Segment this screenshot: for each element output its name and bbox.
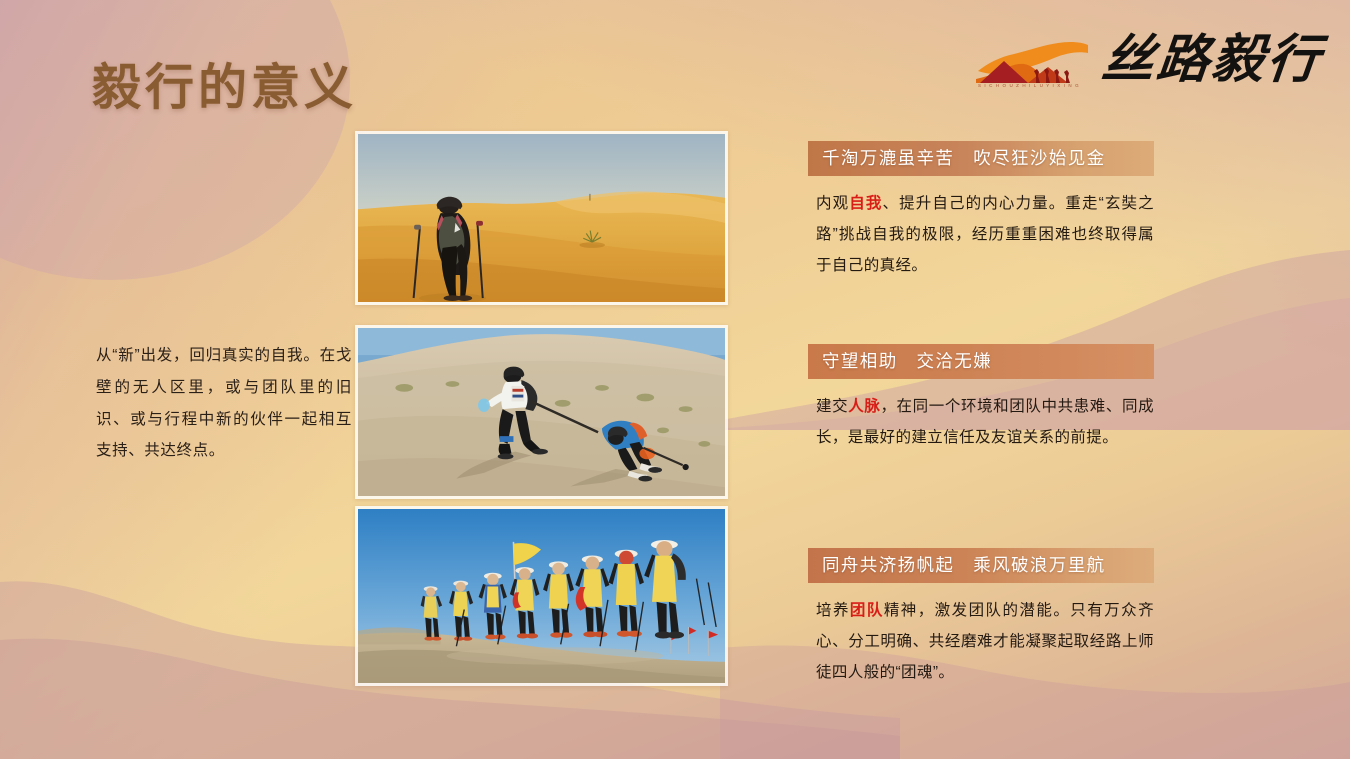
brand-logo: S I C H O U Z H I L U Y I X I N G 丝路毅行 (974, 28, 1322, 94)
feature-1-banner: 千淘万漉虽辛苦 吹尽狂沙始见金 (808, 141, 1154, 176)
feature-2-banner: 守望相助 交洽无嫌 (808, 344, 1154, 379)
feature-1-highlight: 自我 (849, 195, 882, 212)
feature-2-body: 建交人脉，在同一个环境和团队中共患难、同成长，是最好的建立信任及友谊关系的前提。 (808, 391, 1154, 453)
feature-2-body-pre: 建交 (816, 398, 848, 415)
photo-solo-hiker-dunes (355, 131, 728, 305)
feature-block-team: 同舟共济扬帆起 乘风破浪万里航 培养团队精神，激发团队的潜能。只有万众齐心、分工… (808, 548, 1154, 688)
feature-1-body-pre: 内观 (816, 195, 849, 212)
photo-two-hikers-helping (355, 325, 728, 499)
feature-1-body: 内观自我、提升自己的内心力量。重走“玄奘之路”挑战自我的极限，经历重重困难也终取… (808, 188, 1154, 281)
page-title: 毅行的意义 (92, 48, 357, 119)
logo-subtitle: S I C H O U Z H I L U Y I X I N G (978, 83, 1080, 88)
feature-3-banner: 同舟共济扬帆起 乘风破浪万里航 (808, 548, 1154, 583)
feature-block-network: 守望相助 交洽无嫌 建交人脉，在同一个环境和团队中共患难、同成长，是最好的建立信… (808, 344, 1154, 453)
logo-wordmark: 丝路毅行 (1099, 35, 1324, 87)
feature-block-self: 千淘万漉虽辛苦 吹尽狂沙始见金 内观自我、提升自己的内心力量。重走“玄奘之路”挑… (808, 141, 1154, 281)
feature-3-body-pre: 培养 (816, 602, 850, 619)
feature-3-body: 培养团队精神，激发团队的潜能。只有万众齐心、分工明确、共经磨难才能凝聚起取经路上… (808, 595, 1154, 688)
feature-2-highlight: 人脉 (848, 398, 880, 415)
slide-canvas: 毅行的意义 S I C H O U Z H I L U Y I X I N G … (0, 0, 1350, 759)
desert-dunes-with-walkers-icon: S I C H O U Z H I L U Y I X I N G (974, 33, 1092, 89)
photo-team-walking-together (355, 506, 728, 686)
feature-3-highlight: 团队 (850, 602, 884, 619)
left-description-text: 从“新”出发，回归真实的自我。在戈壁的无人区里，或与团队里的旧识、或与行程中新的… (96, 340, 352, 467)
